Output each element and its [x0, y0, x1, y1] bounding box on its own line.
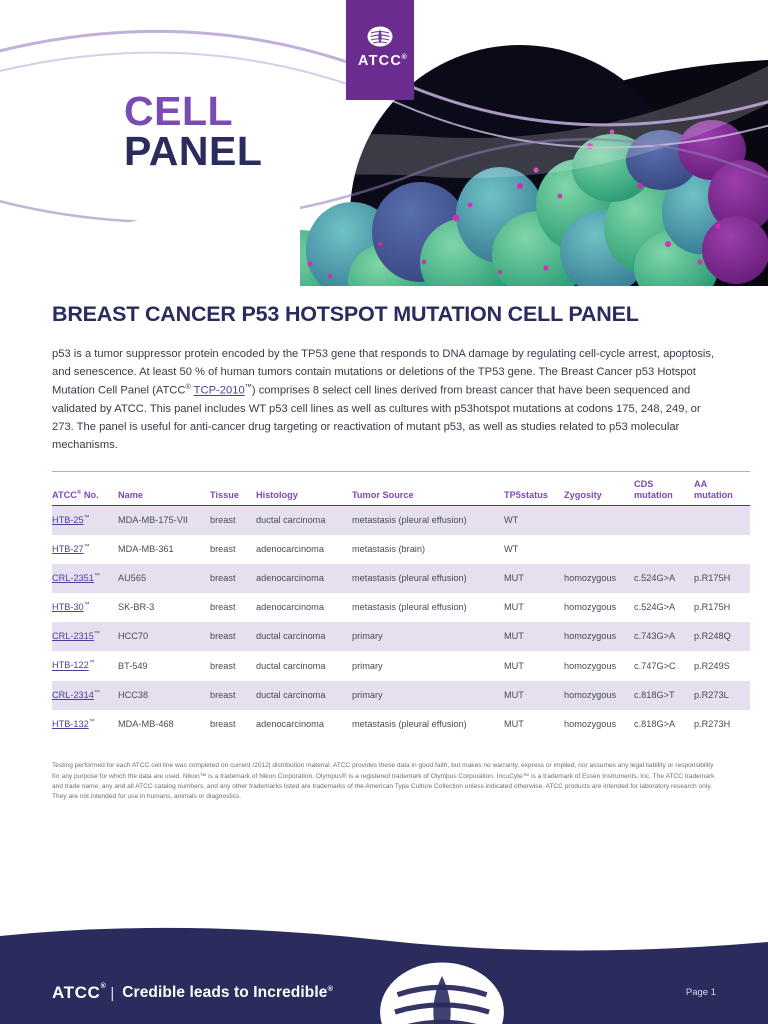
table-row: HTB-25™MDA-MB-175-VIIbreastductal carcin… — [52, 506, 750, 536]
cell-zygosity: homozygous — [564, 651, 634, 680]
atcc-oval-logo-icon — [367, 26, 393, 47]
cell-tissue: breast — [210, 681, 256, 710]
cell-catalog-number[interactable]: HTB-30™ — [52, 593, 118, 622]
page-title: BREAST CANCER P53 HOTSPOT MUTATION CELL … — [0, 286, 768, 327]
intro-registered-mark: ® — [185, 382, 190, 391]
cell-cds-mutation — [634, 535, 694, 564]
atcc-logo-tab: ATCC® — [346, 0, 414, 100]
cell-catalog-number[interactable]: CRL-2351™ — [52, 564, 118, 593]
cell-cell-line-name: BT-549 — [118, 651, 210, 680]
document-page: ATCC® CELL PANEL BREAST CANCER P53 HOTSP… — [0, 0, 768, 1024]
footer-tagline-text: Credible leads to Incredible — [122, 985, 327, 1002]
cell-catalog-number[interactable]: CRL-2315™ — [52, 622, 118, 651]
cell-zygosity: homozygous — [564, 593, 634, 622]
cell-zygosity — [564, 506, 634, 536]
column-header-tissue: Tissue — [210, 471, 256, 505]
catalog-header-tail: No. — [81, 490, 98, 500]
footer-brand: ATCC® | Credible leads to Incredible® — [52, 960, 333, 1003]
catalog-number-link[interactable]: HTB-132 — [52, 719, 89, 729]
catalog-number-link[interactable]: HTB-25 — [52, 515, 84, 525]
cell-tumor-source: metastasis (brain) — [352, 535, 504, 564]
column-header-aa-mutation: AAmutation — [694, 471, 750, 505]
cds-header-line1: CDS — [634, 479, 653, 489]
cell-catalog-number[interactable]: HTB-132™ — [52, 710, 118, 739]
cell-tumor-source: primary — [352, 681, 504, 710]
cell-zygosity: homozygous — [564, 710, 634, 739]
cell-cds-mutation: c.818G>A — [634, 710, 694, 739]
column-header-cds-mutation: CDSmutation — [634, 471, 694, 505]
catalog-trademark: ™ — [89, 719, 95, 726]
footer-separator: | — [110, 985, 114, 1002]
catalog-number-link[interactable]: HTB-122 — [52, 661, 89, 671]
cell-tumor-source: metastasis (pleural effusion) — [352, 564, 504, 593]
cell-cds-mutation: c.524G>A — [634, 593, 694, 622]
cell-aa-mutation: p.R273L — [694, 681, 750, 710]
footer-tagline-sup: ® — [327, 984, 333, 993]
cell-aa-mutation — [694, 535, 750, 564]
catalog-number-link[interactable]: HTB-27 — [52, 544, 84, 554]
document-content: BREAST CANCER P53 HOTSPOT MUTATION CELL … — [0, 286, 768, 809]
catalog-number-link[interactable]: CRL-2315 — [52, 631, 94, 641]
cell-histology: ductal carcinoma — [256, 681, 352, 710]
catalog-trademark: ™ — [84, 515, 90, 522]
column-header-zygosity: Zygosity — [564, 471, 634, 505]
cell-tp5-status: MUT — [504, 593, 564, 622]
column-header-tumor-source: Tumor Source — [352, 471, 504, 505]
column-header-tp5status: TP5status — [504, 471, 564, 505]
catalog-trademark: ™ — [84, 602, 90, 609]
cell-tp5-status: MUT — [504, 681, 564, 710]
cell-tp5-status: MUT — [504, 710, 564, 739]
cell-tumor-source: metastasis (pleural effusion) — [352, 506, 504, 536]
cell-tissue: breast — [210, 535, 256, 564]
cell-cell-line-name: MDA-MB-361 — [118, 535, 210, 564]
table-row: CRL-2315™HCC70breastductal carcinomaprim… — [52, 622, 750, 651]
cell-histology: ductal carcinoma — [256, 506, 352, 536]
table-row: CRL-2351™AU565breastadenocarcinomametast… — [52, 564, 750, 593]
catalog-number-link[interactable]: HTB-30 — [52, 602, 84, 612]
cell-aa-mutation: p.R249S — [694, 651, 750, 680]
catalog-trademark: ™ — [89, 660, 95, 667]
table-head: ATCC® No. Name Tissue Histology Tumor So… — [52, 471, 750, 505]
table-body: HTB-25™MDA-MB-175-VIIbreastductal carcin… — [52, 506, 750, 739]
footer-brand-line: ATCC® | Credible leads to Incredible® — [52, 983, 333, 1003]
footer-atcc-sup: ® — [101, 983, 107, 990]
cell-tp5-status: WT — [504, 535, 564, 564]
catalog-number-link[interactable]: CRL-2351 — [52, 573, 94, 583]
cell-catalog-number[interactable]: HTB-27™ — [52, 535, 118, 564]
atcc-wordmark-text: ATCC — [358, 53, 402, 69]
hero-title-line1: CELL — [124, 92, 262, 132]
table-row: HTB-132™MDA-MB-468breastadenocarcinomame… — [52, 710, 750, 739]
cell-histology: ductal carcinoma — [256, 622, 352, 651]
hero-title: CELL PANEL — [124, 92, 262, 172]
atcc-oval-logo-icon — [58, 960, 82, 980]
cell-tp5-status: WT — [504, 506, 564, 536]
cell-catalog-number[interactable]: HTB-122™ — [52, 651, 118, 680]
cell-cds-mutation: c.743G>A — [634, 622, 694, 651]
cell-zygosity: homozygous — [564, 622, 634, 651]
cell-tissue: breast — [210, 710, 256, 739]
hero-banner: ATCC® CELL PANEL — [0, 0, 768, 286]
footer-atcc-wordmark: ATCC® — [52, 983, 100, 1003]
table-header-row: ATCC® No. Name Tissue Histology Tumor So… — [52, 471, 750, 505]
cell-histology: ductal carcinoma — [256, 651, 352, 680]
cell-histology: adenocarcinoma — [256, 593, 352, 622]
cell-tissue: breast — [210, 506, 256, 536]
column-header-name: Name — [118, 471, 210, 505]
catalog-number-link[interactable]: CRL-2314 — [52, 690, 94, 700]
footer-content: ATCC® | Credible leads to Incredible® Pa… — [0, 920, 768, 1024]
cell-aa-mutation: p.R175H — [694, 564, 750, 593]
cell-tumor-source: primary — [352, 622, 504, 651]
cell-cds-mutation: c.747G>C — [634, 651, 694, 680]
hero-title-line2: PANEL — [124, 132, 262, 172]
cell-tp5-status: MUT — [504, 622, 564, 651]
cell-panel-table-wrapper: ATCC® No. Name Tissue Histology Tumor So… — [0, 455, 768, 739]
table-row: CRL-2314™HCC38breastductal carcinomaprim… — [52, 681, 750, 710]
cell-cell-line-name: MDA-MB-468 — [118, 710, 210, 739]
catalog-header-main: ATCC — [52, 490, 77, 500]
cell-tp5-status: MUT — [504, 651, 564, 680]
cell-cds-mutation — [634, 506, 694, 536]
cell-aa-mutation: p.R175H — [694, 593, 750, 622]
cell-tissue: breast — [210, 564, 256, 593]
catalog-trademark: ™ — [94, 631, 100, 638]
cell-cell-line-name: AU565 — [118, 564, 210, 593]
cell-cell-line-name: MDA-MB-175-VII — [118, 506, 210, 536]
cell-zygosity: homozygous — [564, 564, 634, 593]
cell-tissue: breast — [210, 593, 256, 622]
footer-atcc-text: ATCC — [52, 983, 100, 1002]
aa-header-line1: AA — [694, 479, 707, 489]
cell-cds-mutation: c.524G>A — [634, 564, 694, 593]
footnote-disclaimer: Testing performed for each ATCC cell lin… — [0, 745, 768, 802]
intro-paragraph: p53 is a tumor suppressor protein encode… — [0, 327, 768, 455]
atcc-wordmark: ATCC® — [358, 53, 402, 69]
cell-zygosity — [564, 535, 634, 564]
column-header-histology: Histology — [256, 471, 352, 505]
tcp-2010-link[interactable]: TCP-2010 — [194, 385, 245, 397]
cell-zygosity: homozygous — [564, 681, 634, 710]
cell-aa-mutation: p.R273H — [694, 710, 750, 739]
footer-tagline: Credible leads to Incredible® — [122, 984, 333, 1002]
aa-header-line2: mutation — [694, 490, 733, 500]
cell-aa-mutation: p.R248Q — [694, 622, 750, 651]
catalog-trademark: ™ — [94, 690, 100, 697]
cell-catalog-number[interactable]: CRL-2314™ — [52, 681, 118, 710]
cell-panel-table: ATCC® No. Name Tissue Histology Tumor So… — [52, 471, 750, 739]
cell-tissue: breast — [210, 651, 256, 680]
cell-tumor-source: primary — [352, 651, 504, 680]
table-row: HTB-27™MDA-MB-361breastadenocarcinomamet… — [52, 535, 750, 564]
page-footer: ATCC® | Credible leads to Incredible® Pa… — [0, 920, 768, 1024]
cds-header-line2: mutation — [634, 490, 673, 500]
catalog-trademark: ™ — [94, 573, 100, 580]
cell-tumor-source: metastasis (pleural effusion) — [352, 593, 504, 622]
cell-histology: adenocarcinoma — [256, 535, 352, 564]
cell-aa-mutation — [694, 506, 750, 536]
catalog-trademark: ™ — [84, 544, 90, 551]
cell-tp5-status: MUT — [504, 564, 564, 593]
cell-cds-mutation: c.818G>T — [634, 681, 694, 710]
cell-cell-line-name: HCC38 — [118, 681, 210, 710]
cell-cell-line-name: SK-BR-3 — [118, 593, 210, 622]
cell-catalog-number[interactable]: HTB-25™ — [52, 506, 118, 536]
intro-link-trademark: ™ — [245, 382, 252, 391]
atcc-wordmark-sup: ® — [402, 54, 408, 61]
cell-histology: adenocarcinoma — [256, 710, 352, 739]
cell-cell-line-name: HCC70 — [118, 622, 210, 651]
column-header-catalog-number: ATCC® No. — [52, 471, 118, 505]
cell-tumor-source: metastasis (pleural effusion) — [352, 710, 504, 739]
cell-histology: adenocarcinoma — [256, 564, 352, 593]
cell-tissue: breast — [210, 622, 256, 651]
table-row: HTB-122™BT-549breastductal carcinomaprim… — [52, 651, 750, 680]
table-row: HTB-30™SK-BR-3breastadenocarcinomametast… — [52, 593, 750, 622]
